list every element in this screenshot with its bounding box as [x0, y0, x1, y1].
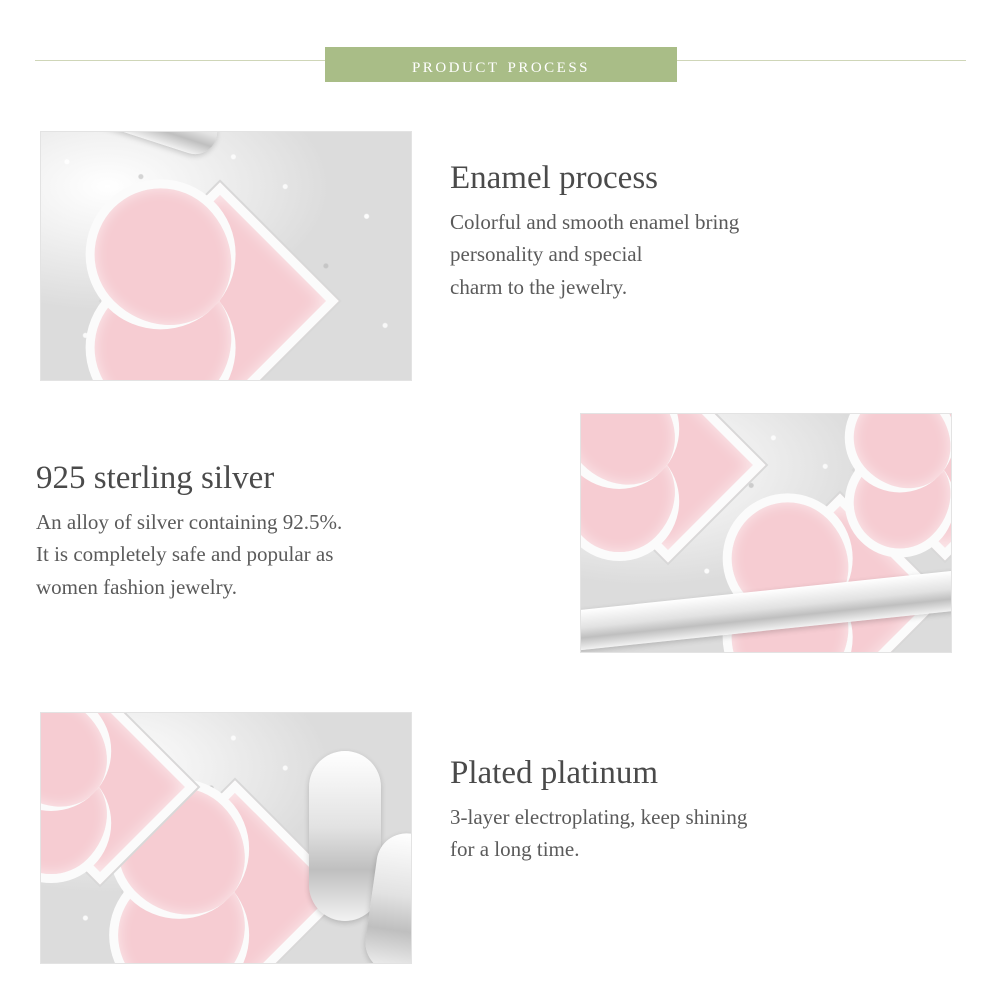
section-text-enamel: Enamel process Colorful and smooth ename… [450, 160, 970, 304]
section-body-sterling-silver: An alloy of silver containing 92.5%. It … [36, 506, 556, 604]
section-text-sterling-silver: 925 sterling silver An alloy of silver c… [36, 460, 556, 604]
product-image-enamel [40, 131, 412, 381]
enamel-heart-shape-tertiary [854, 413, 952, 561]
section-heading-enamel: Enamel process [450, 160, 970, 198]
product-image-plated-platinum [40, 712, 412, 964]
product-image-sterling-silver [580, 413, 952, 653]
header-title-banner: Product process [325, 47, 677, 82]
section-body-plated-platinum: 3-layer electroplating, keep shining for… [450, 801, 970, 866]
section-text-plated-platinum: Plated platinum 3-layer electroplating, … [450, 755, 970, 866]
section-body-enamel: Colorful and smooth enamel bring persona… [450, 206, 970, 304]
silver-band [309, 751, 381, 921]
page-title: Product process [412, 52, 590, 78]
section-heading-plated-platinum: Plated platinum [450, 755, 970, 793]
section-heading-sterling-silver: 925 sterling silver [36, 460, 556, 498]
